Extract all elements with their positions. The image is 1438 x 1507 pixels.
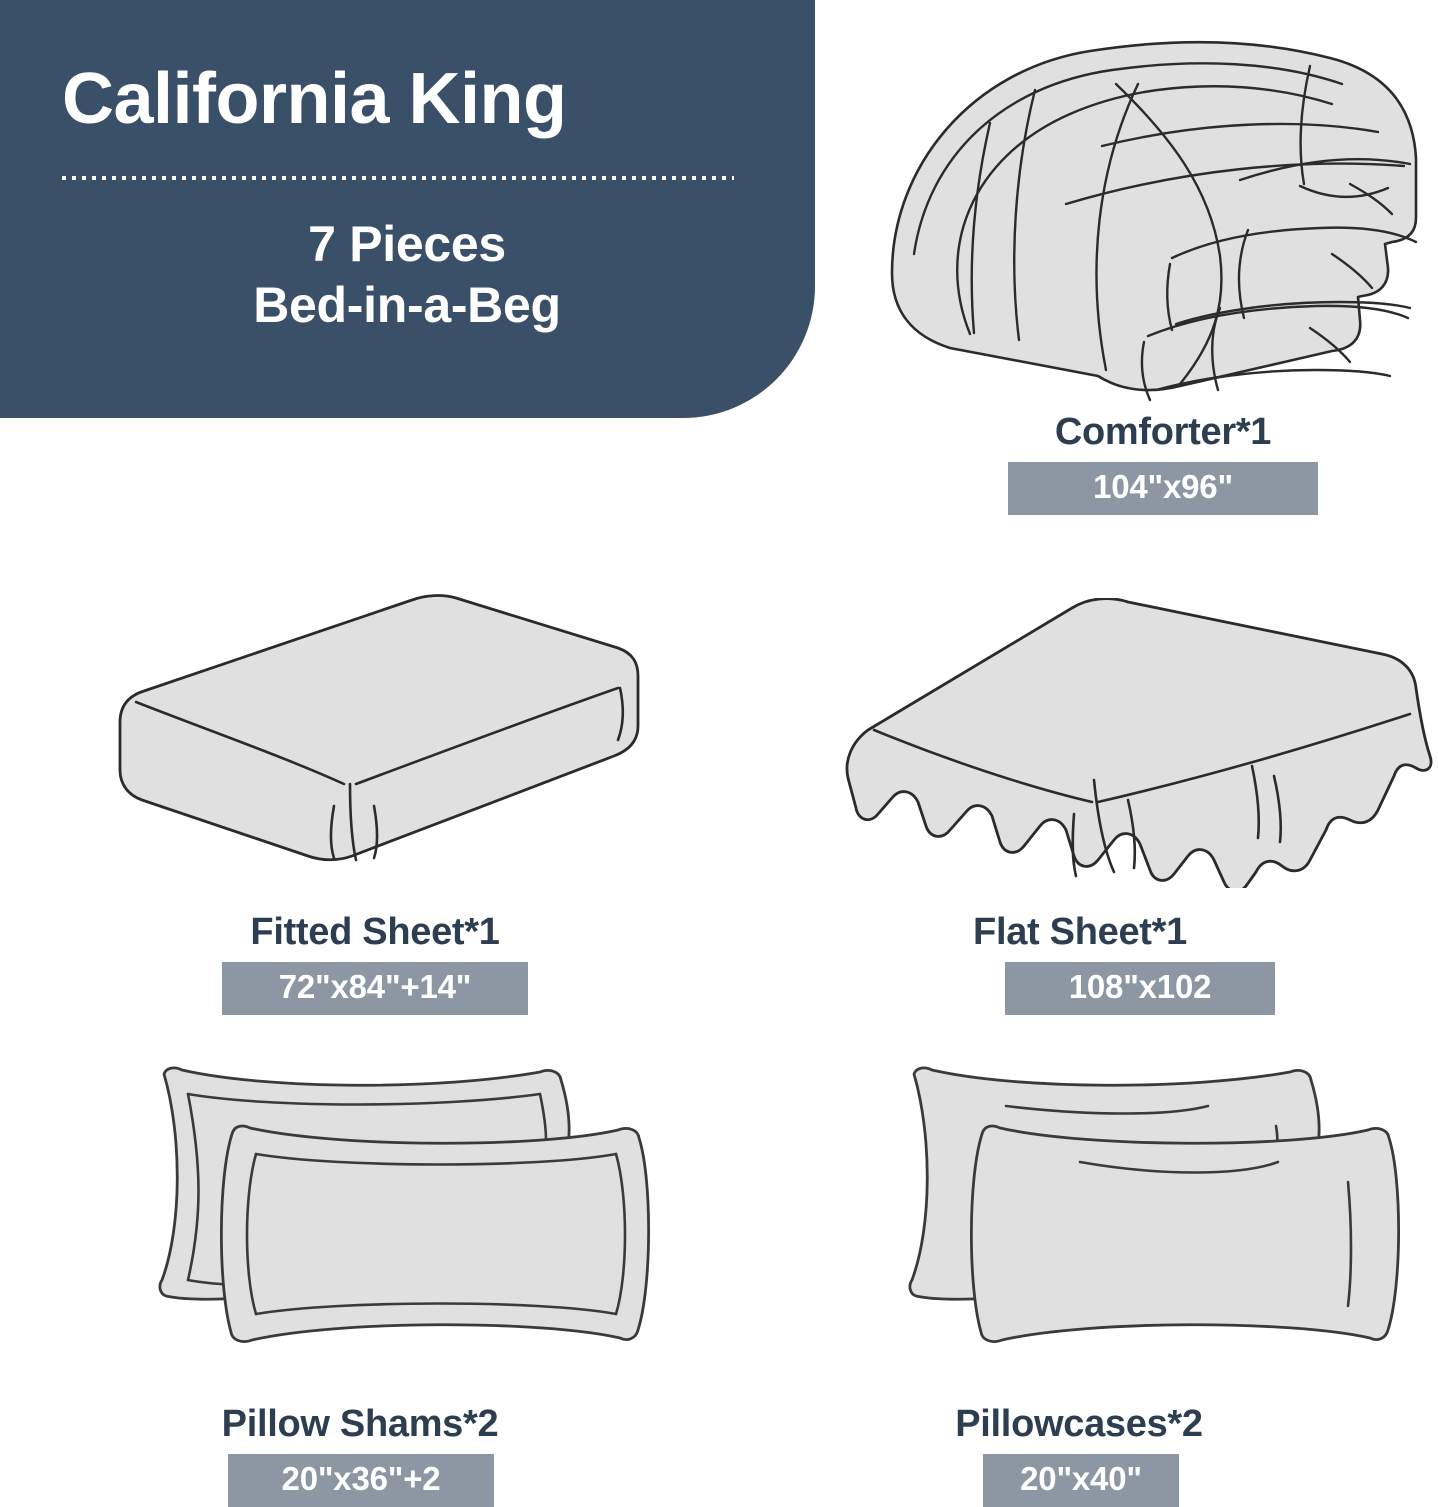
item-label-pillow-shams: Pillow Shams*2 bbox=[140, 1404, 580, 1446]
item-label-comforter: Comforter*1 bbox=[1008, 412, 1318, 454]
item-size-badge-pillowcases: 20"x40" bbox=[983, 1454, 1179, 1507]
item-label-pillowcases: Pillowcases*2 bbox=[859, 1404, 1299, 1446]
product-item-comforter: Comforter*1 104"x96" bbox=[0, 0, 1438, 520]
flat-sheet-icon bbox=[822, 598, 1438, 888]
item-size-badge-comforter: 104"x96" bbox=[1008, 462, 1318, 515]
product-item-pillowcases: Pillowcases*2 20"x40" bbox=[719, 1040, 1438, 1500]
item-size-badge-pillow-shams: 20"x36"+2 bbox=[228, 1454, 494, 1507]
item-size-badge-fitted-sheet: 72"x84"+14" bbox=[222, 962, 528, 1015]
fitted-sheet-icon bbox=[112, 588, 642, 868]
folded-comforter-icon bbox=[880, 18, 1425, 413]
pillow-shams-icon bbox=[140, 1056, 660, 1396]
product-item-pillow-shams: Pillow Shams*2 20"x36"+2 bbox=[0, 1040, 719, 1500]
item-label-fitted-sheet: Fitted Sheet*1 bbox=[155, 912, 595, 954]
product-item-flat-sheet: Flat Sheet*1 108"x102 bbox=[719, 560, 1438, 1020]
item-size-badge-flat-sheet: 108"x102 bbox=[1005, 962, 1275, 1015]
product-item-fitted-sheet: Fitted Sheet*1 72"x84"+14" bbox=[0, 560, 719, 1020]
item-label-flat-sheet: Flat Sheet*1 bbox=[895, 912, 1265, 954]
pillowcases-icon bbox=[890, 1056, 1410, 1396]
